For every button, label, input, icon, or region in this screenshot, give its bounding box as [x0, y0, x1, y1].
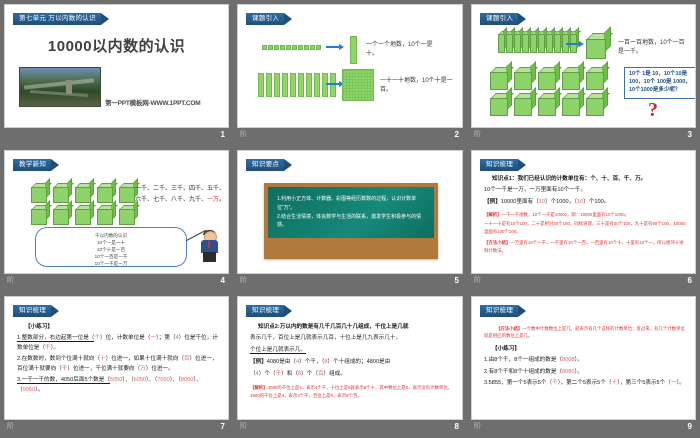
ten-rods-group [258, 73, 336, 97]
slide-cell-5[interactable]: 知识要点 1.利用小正方体、计数器、彩图等经历数数的过程，认识计数单位“万”。 … [233, 146, 467, 292]
slide-6-tag-label: 知识梳理 [480, 159, 518, 171]
slide-2-tag-label: 课题引入 [246, 13, 284, 25]
slide-cell-8[interactable]: 知识梳理 知识点2:万以内的数是有几千几百几十几组成，千位上是几就 表示几千，百… [233, 292, 467, 438]
slide-6-footer: 阶 6 [471, 274, 696, 288]
tag-arrow-icon [284, 305, 292, 317]
summary-box: 千以内数的认识 10个一是一十 10个十是一百 10个一百是一千 10个一千是一… [35, 227, 187, 267]
ten-rod [258, 73, 264, 97]
credit-text: 第一PPT模板网-WWW.1PPT.COM [105, 97, 200, 107]
example-text-2: ）个1000，（ [545, 199, 577, 205]
summary-line-4: 10个一千是一万 [36, 260, 186, 267]
slide-9-tag-label: 知识梳理 [480, 305, 518, 317]
slide-6-page-number: 6 [688, 274, 692, 288]
slide-7-footer: 阶 7 [4, 420, 229, 434]
example-label: 【例】 [250, 359, 267, 365]
slide-6[interactable]: 知识梳理 知识点1：我们已经认识的计数单位有：个、十、百、千、万。 10个一千是… [471, 150, 696, 274]
great-wall-image [19, 67, 101, 107]
thousand-cube [75, 183, 93, 201]
slide-2-page-number: 2 [455, 128, 459, 142]
ten-rod [350, 36, 357, 64]
thousand-cube [562, 93, 583, 114]
slide-2[interactable]: 课题引入 一个一个地数，10个一是十。 [237, 4, 463, 128]
question-mark-icon: ? [648, 99, 658, 122]
example-text-7: ）个（ [301, 371, 318, 377]
slide-1[interactable]: 第七单元 万以内数的认识 10000以内数的认识 第一PPT模板网-WWW.1P… [4, 4, 229, 128]
hundred-slab [522, 31, 529, 51]
q3-answer-2: 6050 [134, 377, 146, 383]
thousand-cube [562, 67, 583, 88]
slide-cell-3[interactable]: 课题引入 一百一百地数，10个一百是一千。 [467, 0, 700, 146]
tag-arrow-icon [518, 159, 526, 171]
thousand-cube [490, 67, 511, 88]
slide-3-tag-label: 课题引入 [480, 13, 518, 25]
hundred-slab [498, 31, 505, 51]
blackboard: 1.利用小正方体、计数器、彩图等经历数数的过程，认识计数单位“万”。 2.结合生… [264, 183, 438, 259]
slide-5-page-number: 5 [455, 274, 459, 288]
slide-cell-6[interactable]: 知识梳理 知识点1：我们已经认识的计数单位有：个、十、百、千、万。 10个一千是… [467, 146, 700, 292]
slide-4-tag: 教学新知 [13, 159, 59, 171]
unit-cube [316, 45, 321, 50]
q3-text-g: ）。 [676, 380, 684, 386]
hundred-slab [562, 31, 569, 51]
footer-left-mark: 阶 [7, 420, 14, 434]
tag-arrow-icon [284, 159, 292, 171]
slide-2-tag: 课题引入 [246, 13, 292, 25]
q3-answer-3: 7050 [157, 377, 169, 383]
hundred-slab [570, 31, 577, 51]
q3-answer-1: 5050 [110, 377, 122, 383]
ten-rod [330, 73, 336, 97]
tag-arrow-icon [518, 305, 526, 317]
example-text-3: ）个十组成的；4800是由 [327, 359, 390, 365]
summary-title: 千以内数的认识 [36, 232, 186, 239]
footer-left-mark: 阶 [474, 420, 481, 434]
ten-rod [314, 73, 320, 97]
example-text-1: 4080是由（ [267, 359, 296, 365]
thousand-cube [53, 205, 71, 223]
summary-line-1: 10个一是一十 [36, 239, 186, 246]
wall-ridge-2 [30, 90, 88, 97]
thousand-cube [538, 93, 559, 114]
example-text-3: ）个100。 [583, 199, 609, 205]
unit-cube [274, 45, 279, 50]
slide-8-page-number: 8 [455, 420, 459, 434]
thousand-cube [514, 67, 535, 88]
hundred-flat [342, 69, 374, 101]
q1-text-i: ）。 [51, 345, 59, 351]
slide-4-footer: 阶 4 [4, 274, 229, 288]
slide-9-tag: 知识梳理 [480, 305, 526, 317]
teacher-illustration [197, 231, 227, 265]
exercise-heading: 【小练习】 [484, 345, 687, 355]
unit-cube [286, 45, 291, 50]
slide-8-tag-label: 知识梳理 [246, 305, 284, 317]
q1-text-e: ）；第（ [156, 335, 176, 341]
ten-rod [282, 73, 288, 97]
thousand-cube [97, 205, 115, 223]
hundred-slab [546, 31, 553, 51]
q3-text-k: ）。 [35, 387, 43, 393]
summary-line-2: 10个十是一百 [36, 246, 186, 253]
slide-cell-7[interactable]: 知识梳理 【小练习】 1.整数部分，右边起第一位是（个）位，计数单位是（一）；第… [0, 292, 233, 438]
q2-text-i: ）位进一。 [146, 366, 174, 372]
arrow-right-icon-1 [326, 46, 340, 48]
slide-2-footer: 阶 2 [237, 128, 463, 142]
q3-text-e: ）、（ [146, 377, 157, 383]
thousand-cube [119, 205, 137, 223]
slide-3-page-number: 3 [688, 128, 692, 142]
tag-arrow-icon [284, 13, 292, 25]
slide-cell-1[interactable]: 第七单元 万以内数的认识 10000以内数的认识 第一PPT模板网-WWW.1P… [0, 0, 233, 146]
tag-arrow-icon [518, 13, 526, 25]
counting-sequence-end: 。 [219, 197, 225, 203]
ten-rod [322, 73, 328, 97]
footer-left-mark: 阶 [240, 128, 247, 142]
slide-1-page-number: 1 [221, 128, 225, 142]
knowledge-point-2-line-3: 个位上是几就表示几。 [250, 347, 306, 354]
q1-answer: 8008 [562, 357, 574, 363]
q2-text-c: ）位进一，如果十位满十就向（ [106, 356, 184, 362]
q1-text-c: ）位，计数单位是（ [100, 335, 150, 341]
unit-cube [310, 45, 315, 50]
footer-left-mark: 阶 [7, 274, 14, 288]
hundred-slab [538, 31, 545, 51]
ten-rod [290, 73, 296, 97]
thousand-cube [490, 93, 511, 114]
slide-9-body: 【方法小结】一个数中计数数位上是几，就表示有几个这样的计数单位；反过来，有几个计… [484, 325, 687, 390]
slide-8[interactable]: 知识梳理 知识点2:万以内的数是有几千几百几十几组成，千位上是几就 表示几千，百… [237, 296, 463, 420]
q3-text-c: ）、（ [122, 377, 133, 383]
tag-arrow-icon [51, 159, 59, 171]
unit-cube [304, 45, 309, 50]
slide-7-tag: 知识梳理 [13, 305, 59, 317]
q2-text-a: 2.在数数时，数到个位满十就向（ [17, 356, 100, 362]
q3-text-a: 3.5855，第一个5表示5个（ [484, 380, 552, 386]
slide-7-tag-label: 知识梳理 [13, 305, 51, 317]
slide-3-footer: 阶 3 [471, 128, 696, 142]
knowledge-point-2-line-2: 表示几千，百位上是几就表示几百，十位上是几九表示几十， [250, 335, 401, 341]
tag-arrow-icon [51, 305, 59, 317]
slide-3-note-1: 一百一百地数，10个一百是一千。 [618, 39, 690, 57]
unit-cube [262, 45, 267, 50]
analysis-label: 【解析】 [484, 211, 502, 218]
slide-9-page-number: 9 [688, 420, 692, 434]
footer-left-mark: 阶 [474, 128, 481, 142]
q3-text-a: 3.一千一千的数，4050后面5个数是（ [17, 377, 110, 384]
slide-8-body: 知识点2:万以内的数是有几千几百几十几组成，千位上是几就 表示几千，百位上是几就… [250, 323, 454, 401]
thousand-cubes-row-1 [31, 183, 137, 201]
slide-8-tag: 知识梳理 [246, 305, 292, 317]
slide-1-tag: 第七单元 万以内数的认识 [13, 13, 109, 25]
q3-answer-5: 9050 [23, 387, 35, 393]
teacher-legs [203, 252, 216, 262]
example-text-1: 10000里面有（ [501, 199, 539, 205]
example-text-2: ）个千，（ [299, 359, 324, 365]
example-text-8: ）组成。 [323, 371, 345, 377]
summary-line-3: 10个一百是一千 [36, 253, 186, 260]
thousand-cube [586, 33, 610, 57]
thousand-cube [538, 67, 559, 88]
hundred-slab [514, 31, 521, 51]
slide-3-tag: 课题引入 [480, 13, 526, 25]
thousand-cube [586, 67, 607, 88]
thousand-cubes-row-2 [490, 93, 607, 114]
hundred-slabs-group [498, 31, 577, 51]
slide-2-note-2: 一十一十地数，10个十是一百。 [380, 77, 454, 95]
q2-text-a: 2.有8个千和8个十组成的数是（ [484, 369, 562, 375]
slide-7-body: 【小练习】 1.整数部分，右边起第一位是（个）位，计数单位是（一）；第（4）位是… [17, 323, 220, 397]
slide-9[interactable]: 知识梳理 【方法小结】一个数中计数数位上是几，就表示有几个这样的计数单位；反过来… [471, 296, 696, 420]
thousand-cube [586, 93, 607, 114]
analysis-text: 4080的千位上是4，表示4个千，十位上是8就表示8个十，其中数位上是0，表示没… [250, 385, 452, 397]
blackboard-line-1: 1.利用小正方体、计数器、彩图等经历数数的过程，认识计数单位“万”。 [277, 195, 425, 213]
slide-grid: 第七单元 万以内数的认识 10000以内数的认识 第一PPT模板网-WWW.1P… [0, 0, 700, 438]
ten-rod [306, 73, 312, 97]
slide-7-page-number: 7 [221, 420, 225, 434]
thousand-cubes-row-1 [490, 67, 607, 88]
q3-text-g: ）、（ [170, 377, 181, 383]
ten-rod [274, 73, 280, 97]
slide-9-footer: 阶 9 [471, 420, 696, 434]
slide-7[interactable]: 知识梳理 【小练习】 1.整数部分，右边起第一位是（个）位，计数单位是（一）；第… [4, 296, 229, 420]
ten-rod [266, 73, 272, 97]
unit-cube [292, 45, 297, 50]
slide-4-page-number: 4 [221, 274, 225, 288]
knowledge-point-1: 知识点1：我们已经认识的计数单位有：个、十、百、千、万。 [492, 176, 646, 182]
method-label: 【方法小结】 [484, 239, 510, 246]
thousand-cube [75, 205, 93, 223]
unit-cube [280, 45, 285, 50]
thousand-cube [31, 205, 49, 223]
knowledge-point-1-cont: 10个一千是一万，一万里面有10个一千。 [484, 187, 586, 193]
blackboard-face: 1.利用小正方体、计数器、彩图等经历数数的过程，认识计数单位“万”。 2.结合生… [268, 187, 434, 238]
footer-left-mark: 阶 [240, 420, 247, 434]
ten-rod [298, 73, 304, 97]
knowledge-point-2: 知识点2:万以内的数是有几千几百几十几组成，千位上是几就 [258, 324, 408, 330]
footer-left-mark: 阶 [240, 274, 247, 288]
teacher-tie [208, 241, 210, 248]
unit-cube [298, 45, 303, 50]
arrow-right-icon-2 [326, 83, 340, 85]
exercise-heading: 【小练习】 [17, 323, 220, 333]
example-text-6: ）和（ [281, 371, 298, 377]
tag-arrow-icon [101, 13, 109, 25]
q1-text-a: 1.整数部分，右边起第一位是（ [17, 335, 94, 342]
wall-ridge-1 [24, 78, 94, 89]
hundred-slab [530, 31, 537, 51]
q3-answer-4: 8050 [181, 377, 193, 383]
summary-box-inner: 千以内数的认识 10个一是一十 10个十是一百 10个一百是一千 10个一千是一… [36, 228, 186, 268]
slide-1-tag-label: 第七单元 万以内数的认识 [13, 13, 101, 25]
counting-sequence-text: 一千、二千、三千、四千、五千、六千、七千、八千、九千、一万。 [135, 184, 227, 205]
slide-5-tag-label: 知识要点 [246, 159, 284, 171]
thousand-cube [53, 183, 71, 201]
slide-1-footer: 1 [4, 128, 229, 142]
hundred-slab [506, 31, 513, 51]
slide-2-note-1: 一个一个地数，10个一是十。 [366, 41, 438, 59]
method-label: 【方法小结】 [490, 325, 522, 332]
slide-5[interactable]: 知识要点 1.利用小正方体、计数器、彩图等经历数数的过程，认识计数单位“万”。 … [237, 150, 463, 274]
slide-cell-4[interactable]: 教学新知 一千、二千、三千、四千、五千、六千、七千、八千、九千、一万。 [0, 146, 233, 292]
q2-text-c: ）。 [574, 369, 582, 375]
slide-5-footer: 阶 5 [237, 274, 463, 288]
q2-text-g: ）位进一，千位满十就要向（ [67, 366, 140, 372]
slide-6-body: 知识点1：我们已经认识的计数单位有：个、十、百、千、万。 10个一千是一万，一万… [484, 175, 687, 256]
q3-text-e: ），第三个5表示5个（ [617, 380, 671, 386]
arrow-right-icon [566, 43, 580, 45]
unit-cube [268, 45, 273, 50]
slide-4-tag-label: 教学新知 [13, 159, 51, 171]
q2-answer: 8080 [562, 369, 574, 375]
ten-rod-result [350, 36, 357, 69]
page-title: 10000以内数的认识 [5, 35, 228, 56]
thousand-cubes-row-2 [31, 205, 137, 223]
counting-sequence-highlight: 一万 [207, 197, 219, 203]
method-text: 一万里有10个一千，一千里有10个一百，一百里有10个十，十里有10个一，所以相… [484, 240, 684, 252]
analysis-text-2: 一十一十是有10个100，二十是相对20个100，同样道理，三十是有30个100… [484, 221, 686, 233]
example-label: 【例】 [484, 199, 501, 205]
slide-4[interactable]: 教学新知 一千、二千、三千、四千、五千、六千、七千、八千、九千、一万。 [4, 150, 229, 274]
slide-6-tag: 知识梳理 [480, 159, 526, 171]
q1-text-a: 1.由8个千，8个一组成的数是（ [484, 357, 562, 363]
slide-cell-9[interactable]: 知识梳理 【方法小结】一个数中计数数位上是几，就表示有几个这样的计数单位；反过来… [467, 292, 700, 438]
slide-5-tag: 知识要点 [246, 159, 292, 171]
footer-left-mark: 阶 [474, 274, 481, 288]
slide-8-footer: 阶 8 [237, 420, 463, 434]
q1-text-c: ）。 [574, 357, 582, 363]
analysis-text-1: 一千一千地数，10个一千是10000，即：10000里面有10个1000。 [502, 212, 629, 217]
thousand-cube [97, 183, 115, 201]
slide-cell-2[interactable]: 课题引入 一个一个地数，10个一是十。 [233, 0, 467, 146]
hundred-slab [554, 31, 561, 51]
thousand-cube [514, 93, 535, 114]
blackboard-line-2: 2.结合生活情境，体会数学与生活的联系，激发学生积极参与的情感。 [277, 213, 425, 231]
wall-tower [66, 80, 72, 94]
analysis-label: 【解析】 [250, 384, 268, 391]
q3-text-c: ），第二个5表示5个（ [558, 380, 612, 386]
question-callout: 10个 1是 10，10个10是100，10个 100是 1000，10个100… [624, 67, 696, 99]
example-text-5: ）个（ [259, 371, 276, 377]
unit-cubes-group [262, 45, 321, 50]
thousand-cube [31, 183, 49, 201]
slide-3[interactable]: 课题引入 一百一百地数，10个一百是一千。 [471, 4, 696, 128]
